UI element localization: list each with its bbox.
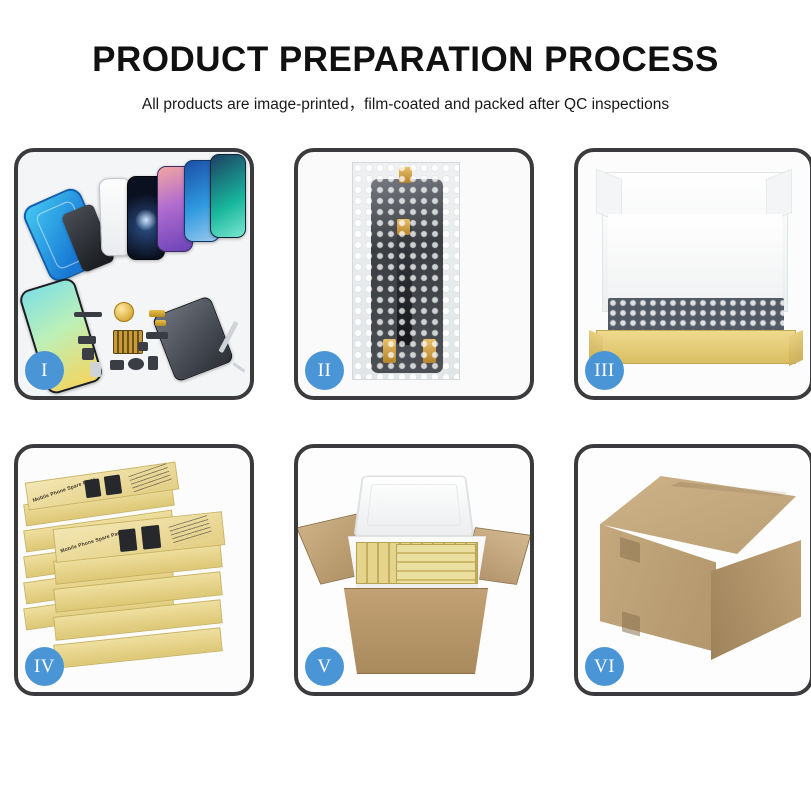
- tape-patch-lower: [622, 611, 640, 636]
- battery-connector-icon: [148, 356, 158, 370]
- process-step-5: V: [294, 444, 534, 696]
- step-badge-2: II: [305, 351, 344, 390]
- vibrator-icon: [82, 348, 94, 360]
- earpiece-mesh-icon: [74, 312, 102, 317]
- gold-bracket-icon: [155, 320, 166, 326]
- carton-side-face: [711, 540, 801, 660]
- step-badge-1: I: [25, 351, 64, 390]
- process-step-6: VI: [574, 444, 811, 696]
- screwdriver-icon: [232, 362, 245, 372]
- process-step-2: II: [294, 148, 534, 400]
- box-art-screen-left: [84, 478, 101, 498]
- box-art-screen-right: [104, 474, 122, 495]
- process-step-1: I: [14, 148, 254, 400]
- process-step-3: III: [574, 148, 811, 400]
- mid-connector-icon: [397, 219, 410, 235]
- flex-cable-icon: [146, 332, 168, 339]
- lower-left-connector-icon: [383, 339, 396, 363]
- bubble-wrap-tray: [608, 298, 784, 334]
- bubble-wrap-bag: [352, 162, 460, 380]
- sim-tray-icon: [90, 362, 101, 377]
- process-step-grid: I II III: [14, 148, 799, 748]
- gold-connector-icon: [149, 310, 165, 317]
- box-art-screen-right: [141, 525, 161, 550]
- page-title: PRODUCT PREPARATION PROCESS: [0, 40, 811, 80]
- button-flex-icon: [110, 360, 124, 370]
- gold-box-base: [596, 330, 796, 364]
- lower-right-connector-icon: [423, 339, 436, 363]
- speaker-icon: [128, 358, 144, 370]
- box-art-screen-left: [118, 528, 137, 552]
- page-header: PRODUCT PREPARATION PROCESS All products…: [0, 0, 811, 114]
- foam-lid: [353, 476, 474, 537]
- process-step-4: Mobile Phone Spare Parts Mobile Phone Sp…: [14, 444, 254, 696]
- teal-phone-icon: [210, 154, 246, 238]
- phone-back-housing-icon: [152, 295, 235, 383]
- top-connector-icon: [399, 167, 412, 183]
- step-badge-4: IV: [25, 647, 64, 686]
- camera-module-icon: [78, 336, 96, 344]
- step-badge-3: III: [585, 351, 624, 390]
- carton-body: [334, 588, 498, 674]
- page-subtitle: All products are image-printed，film-coat…: [0, 92, 811, 114]
- gold-boxes-inside-right: [396, 544, 476, 584]
- step-badge-5: V: [305, 647, 344, 686]
- white-foam-liner: [608, 214, 782, 310]
- flex-cable-icon: [397, 225, 412, 345]
- speaker-coil-icon: [114, 302, 134, 322]
- small-connector-icon: [138, 342, 148, 351]
- step-badge-6: VI: [585, 647, 624, 686]
